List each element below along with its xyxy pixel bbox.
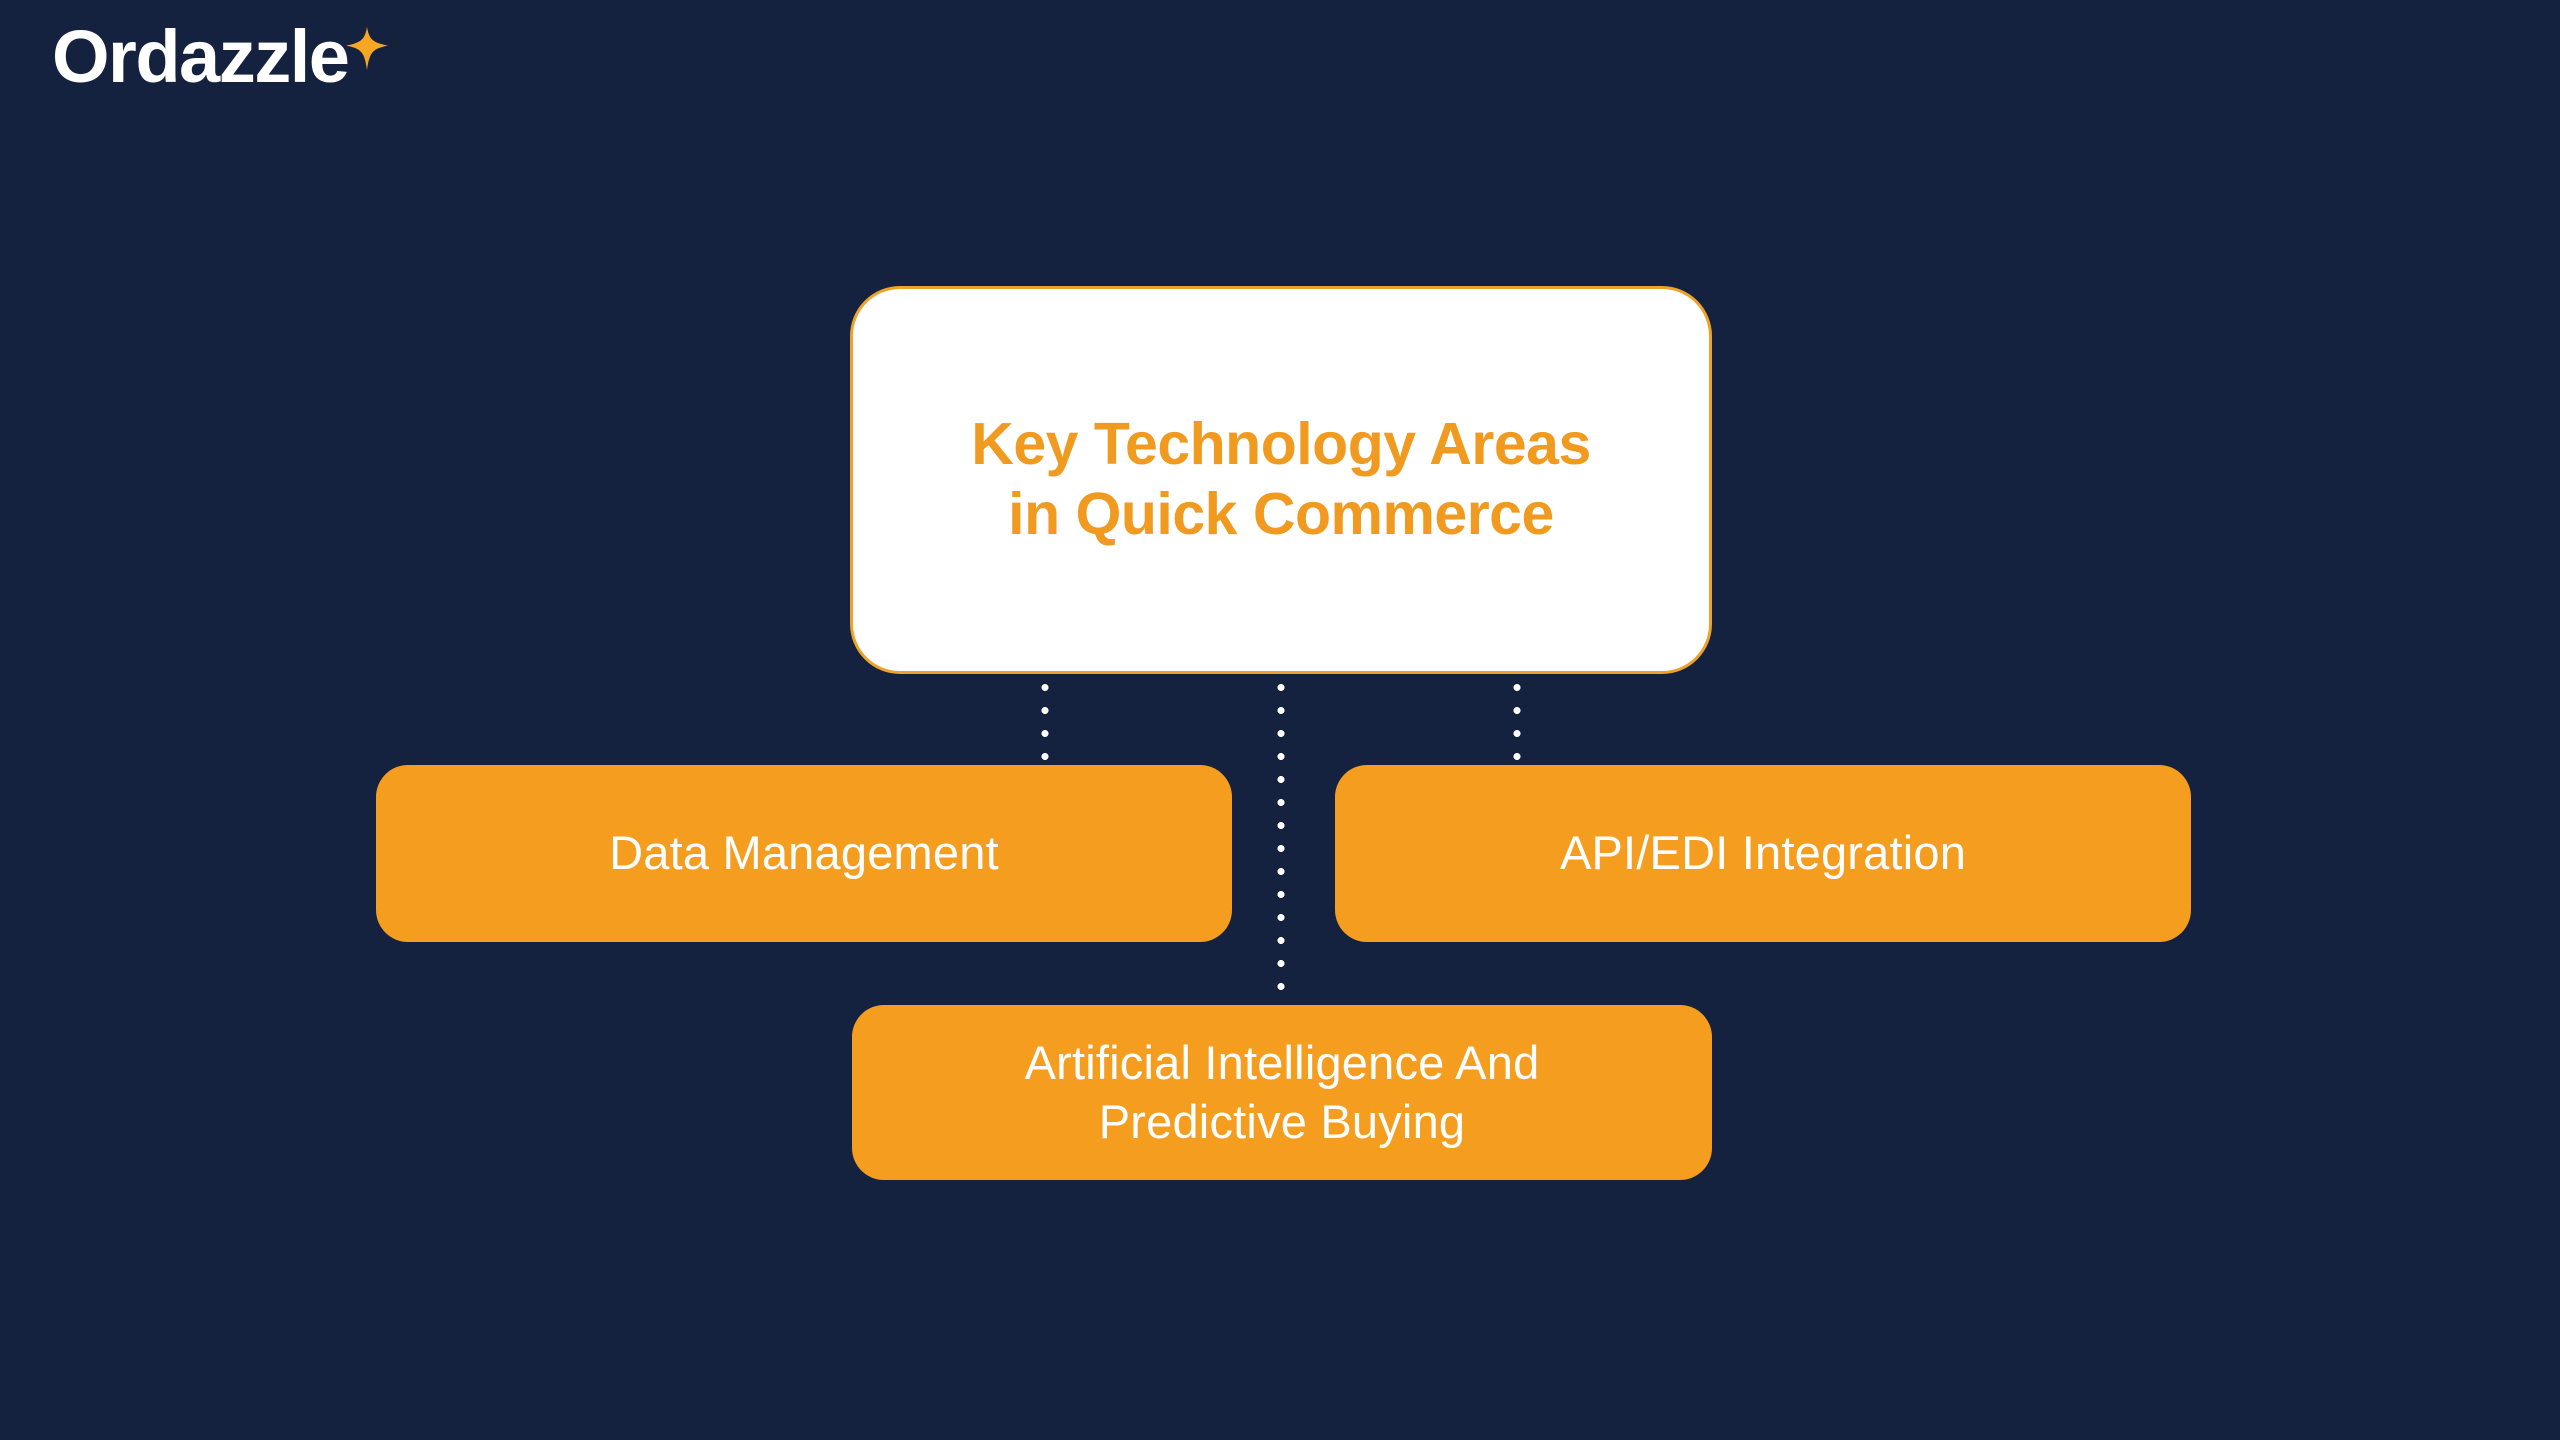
brand-logo-text: Ordazzle — [52, 20, 348, 94]
node-label-api-edi-integration: API/EDI Integration — [1560, 824, 1966, 883]
connector-line-data-management — [1040, 676, 1050, 772]
node-ai-predictive-buying[interactable]: Artificial Intelligence And Predictive B… — [852, 1005, 1712, 1180]
slide-canvas: Ordazzle Key Technology Areas in Quick C… — [0, 0, 2560, 1440]
node-label-ai-predictive-buying: Artificial Intelligence And Predictive B… — [1025, 1034, 1540, 1152]
sparkle-star-icon — [344, 26, 390, 72]
node-data-management[interactable]: Data Management — [376, 765, 1232, 942]
page-title: Key Technology Areas in Quick Commerce — [971, 410, 1591, 549]
node-api-edi-integration[interactable]: API/EDI Integration — [1335, 765, 2191, 942]
key-technology-areas-card: Key Technology Areas in Quick Commerce — [850, 286, 1712, 674]
connector-line-ai-predictive-buying — [1276, 676, 1286, 1010]
brand-logo: Ordazzle — [52, 20, 390, 94]
connector-line-api-edi-integration — [1512, 676, 1522, 772]
node-label-data-management: Data Management — [609, 824, 999, 883]
